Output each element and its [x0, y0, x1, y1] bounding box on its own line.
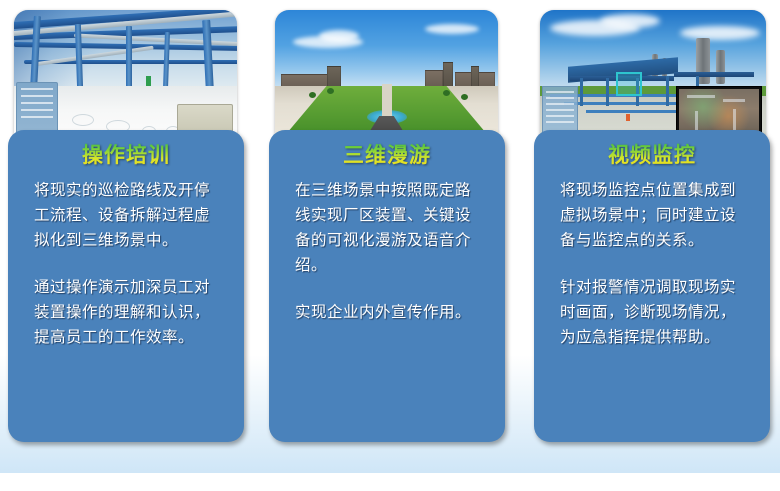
walkway-icon [382, 84, 392, 118]
feature-card-operation-training[interactable]: 操作培训 将现实的巡检路线及开停工流程、设备拆解过程虚拟化到三维场景中。 通过操… [8, 10, 244, 442]
card-body: 将现实的巡检路线及开停工流程、设备拆解过程虚拟化到三维场景中。 通过操作演示加深… [8, 178, 244, 350]
video-feed-image [679, 89, 759, 133]
scene-outdoor-campus [275, 10, 498, 146]
support-column-icon [126, 26, 132, 88]
card-body: 在三维场景中按照既定路线实现厂区装置、关键设备的可视化漫游及语音介绍。 实现企业… [269, 178, 505, 325]
cloud-icon [425, 24, 479, 34]
card-thumbnail-video-surveillance[interactable] [540, 10, 766, 146]
tower-icon [716, 50, 725, 84]
card-title: 视频监控 [534, 140, 770, 170]
card-thumbnail-three-dimensional-roaming[interactable] [275, 10, 498, 146]
shrub-icon [309, 92, 316, 98]
card-title: 操作培训 [8, 140, 244, 170]
feature-card-row: 操作培训 将现实的巡检路线及开停工流程、设备拆解过程虚拟化到三维场景中。 通过操… [0, 0, 780, 491]
shrub-icon [461, 94, 468, 100]
card-paragraph: 将现场监控点位置集成到虚拟场景中；同时建立设备与监控点的关系。 [560, 178, 748, 253]
floor-marking-icon [72, 114, 94, 126]
feature-card-video-surveillance[interactable]: 视频监控 将现场监控点位置集成到虚拟场景中；同时建立设备与监控点的关系。 针对报… [534, 10, 770, 442]
card-body: 将现场监控点位置集成到虚拟场景中；同时建立设备与监控点的关系。 针对报警情况调取… [534, 178, 770, 350]
card-panel: 三维漫游 在三维场景中按照既定路线实现厂区装置、关键设备的可视化漫游及语音介绍。… [269, 130, 505, 442]
scene-plant-with-video-overlay [540, 10, 766, 146]
card-panel: 操作培训 将现实的巡检路线及开停工流程、设备拆解过程虚拟化到三维场景中。 通过操… [8, 130, 244, 442]
cloud-icon [319, 30, 359, 42]
plant-structure-icon [674, 72, 754, 77]
highlighted-equipment-icon [616, 72, 642, 96]
card-panel: 视频监控 将现场监控点位置集成到虚拟场景中；同时建立设备与监控点的关系。 针对报… [534, 130, 770, 442]
card-paragraph: 实现企业内外宣传作用。 [295, 300, 483, 325]
feature-card-three-dimensional-roaming[interactable]: 三维漫游 在三维场景中按照既定路线实现厂区装置、关键设备的可视化漫游及语音介绍。… [269, 10, 505, 442]
cloud-icon [680, 26, 760, 40]
green-indicator-icon [146, 76, 151, 86]
card-paragraph: 针对报警情况调取现场实时画面，诊断现场情况，为应急指挥提供帮助。 [560, 275, 748, 350]
support-leg-icon [606, 78, 609, 106]
card-paragraph: 将现实的巡检路线及开停工流程、设备拆解过程虚拟化到三维场景中。 [34, 178, 222, 253]
card-paragraph: 通过操作演示加深员工对装置操作的理解和认识，提高员工的工作效率。 [34, 275, 222, 350]
support-leg-icon [580, 78, 583, 106]
card-title: 三维漫游 [269, 140, 505, 170]
scene-indoor-plant [14, 10, 237, 146]
card-paragraph: 在三维场景中按照既定路线实现厂区装置、关键设备的可视化漫游及语音介绍。 [295, 178, 483, 278]
location-marker-icon [626, 114, 630, 121]
shrub-icon [443, 90, 450, 96]
card-thumbnail-operation-training[interactable] [14, 10, 237, 146]
shrub-icon [327, 88, 334, 94]
support-leg-icon [666, 76, 669, 106]
cloud-icon [600, 14, 660, 28]
